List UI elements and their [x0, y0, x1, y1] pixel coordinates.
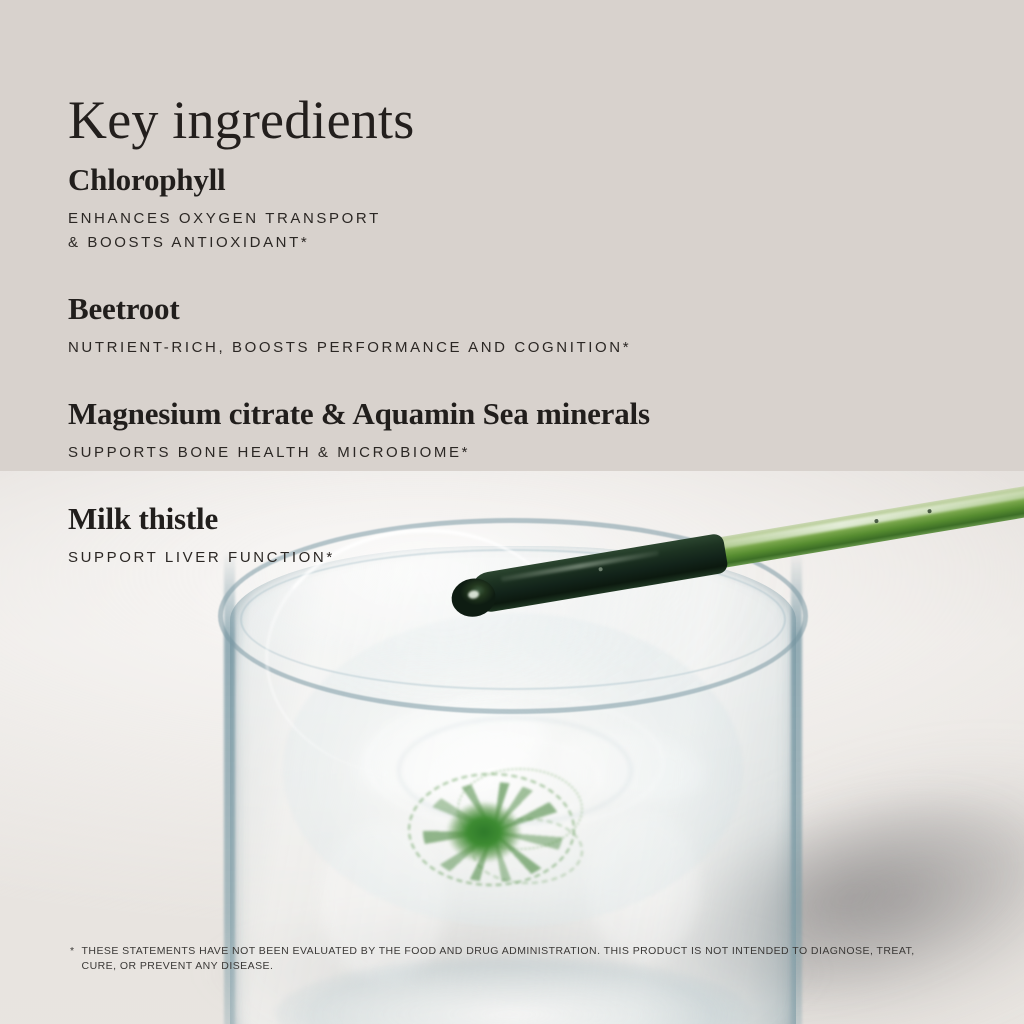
- ingredient-name: Beetroot: [68, 291, 928, 328]
- ingredient-description: NUTRIENT-RICH, BOOSTS PERFORMANCE AND CO…: [68, 336, 928, 360]
- ingredient-milk-thistle: Milk thistle SUPPORT LIVER FUNCTION*: [68, 501, 928, 570]
- ingredient-beetroot: Beetroot NUTRIENT-RICH, BOOSTS PERFORMAN…: [68, 291, 928, 360]
- disclaimer-asterisk: *: [70, 944, 75, 974]
- ingredient-description: ENHANCES OXYGEN TRANSPORT & BOOSTS ANTIO…: [68, 207, 398, 256]
- disclaimer-text: THESE STATEMENTS HAVE NOT BEEN EVALUATED…: [82, 944, 950, 974]
- ingredient-list: Chlorophyll ENHANCES OXYGEN TRANSPORT & …: [68, 162, 928, 606]
- ingredient-name: Milk thistle: [68, 501, 928, 538]
- ingredient-name: Magnesium citrate & Aquamin Sea minerals: [68, 396, 928, 433]
- key-ingredients-graphic: Key ingredients Chlorophyll ENHANCES OXY…: [0, 0, 1024, 1024]
- fda-disclaimer: * THESE STATEMENTS HAVE NOT BEEN EVALUAT…: [70, 944, 950, 974]
- ingredient-chlorophyll: Chlorophyll ENHANCES OXYGEN TRANSPORT & …: [68, 162, 928, 255]
- text-overlay: Key ingredients Chlorophyll ENHANCES OXY…: [0, 0, 1024, 1024]
- ingredient-name: Chlorophyll: [68, 162, 928, 199]
- ingredient-description: SUPPORT LIVER FUNCTION*: [68, 546, 398, 570]
- ingredient-description: SUPPORTS BONE HEALTH & MICROBIOME*: [68, 441, 928, 465]
- ingredient-magnesium-aquamin: Magnesium citrate & Aquamin Sea minerals…: [68, 396, 928, 465]
- page-title: Key ingredients: [68, 92, 414, 149]
